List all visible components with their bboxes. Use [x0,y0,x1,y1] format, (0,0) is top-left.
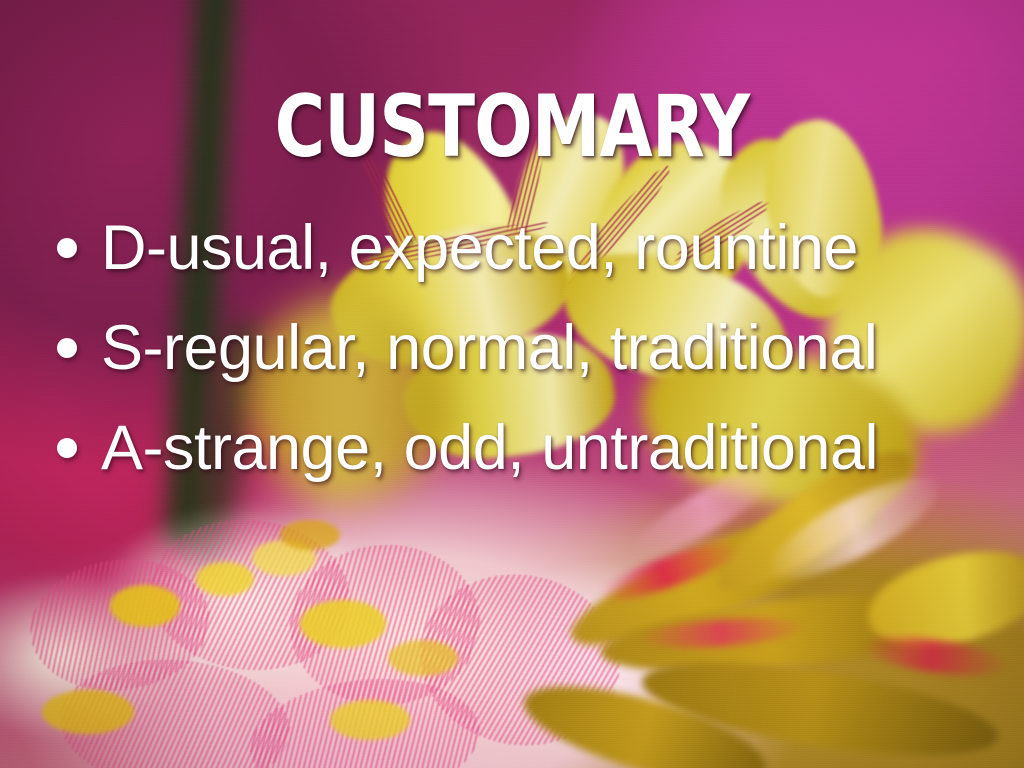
list-item: D-usual, expected, rountine [48,198,1006,298]
list-item: A-strange, odd, untraditional [48,398,1006,498]
slide-title: CUSTOMARY [102,84,921,170]
bullet-text: S-regular, normal, traditional [101,317,1006,380]
bullet-dot-icon [57,338,77,358]
bullet-text: A-strange, odd, untraditional [101,417,1006,480]
bullet-dot-icon [57,238,77,258]
bullet-text: D-usual, expected, rountine [101,217,1006,280]
bullet-list: D-usual, expected, rountine S-regular, n… [48,198,1006,498]
slide-content: CUSTOMARY D-usual, expected, rountine S-… [0,0,1024,768]
bullet-dot-icon [57,438,77,458]
list-item: S-regular, normal, traditional [48,298,1006,398]
presentation-slide: CUSTOMARY D-usual, expected, rountine S-… [0,0,1024,768]
